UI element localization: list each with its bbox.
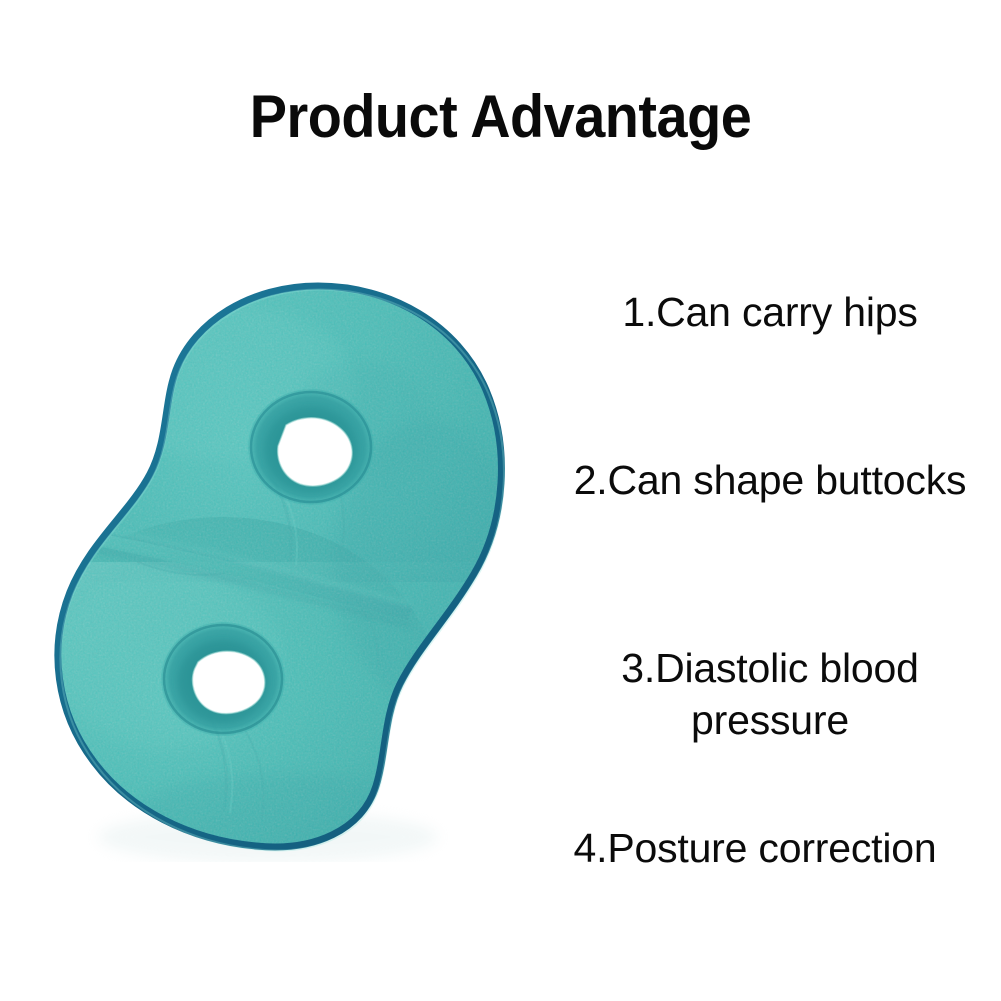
advantage-item-2: 2.Can shape buttocks — [545, 454, 995, 506]
product-advantage-page: Product Advantage — [0, 0, 1001, 1001]
advantage-list: 1.Can carry hips 2.Can shape buttocks 3.… — [545, 272, 995, 922]
cushion-illustration — [18, 262, 528, 862]
product-cushion-image — [18, 262, 528, 862]
cushion-hole-lower — [161, 622, 285, 736]
advantage-item-3: 3.Diastolic blood pressure — [545, 642, 995, 746]
cushion-body — [18, 262, 528, 862]
cushion-hole-upper — [248, 389, 374, 505]
advantage-item-4: 4.Posture correction — [545, 822, 965, 874]
advantage-item-1: 1.Can carry hips — [545, 286, 995, 338]
page-title: Product Advantage — [35, 82, 966, 152]
